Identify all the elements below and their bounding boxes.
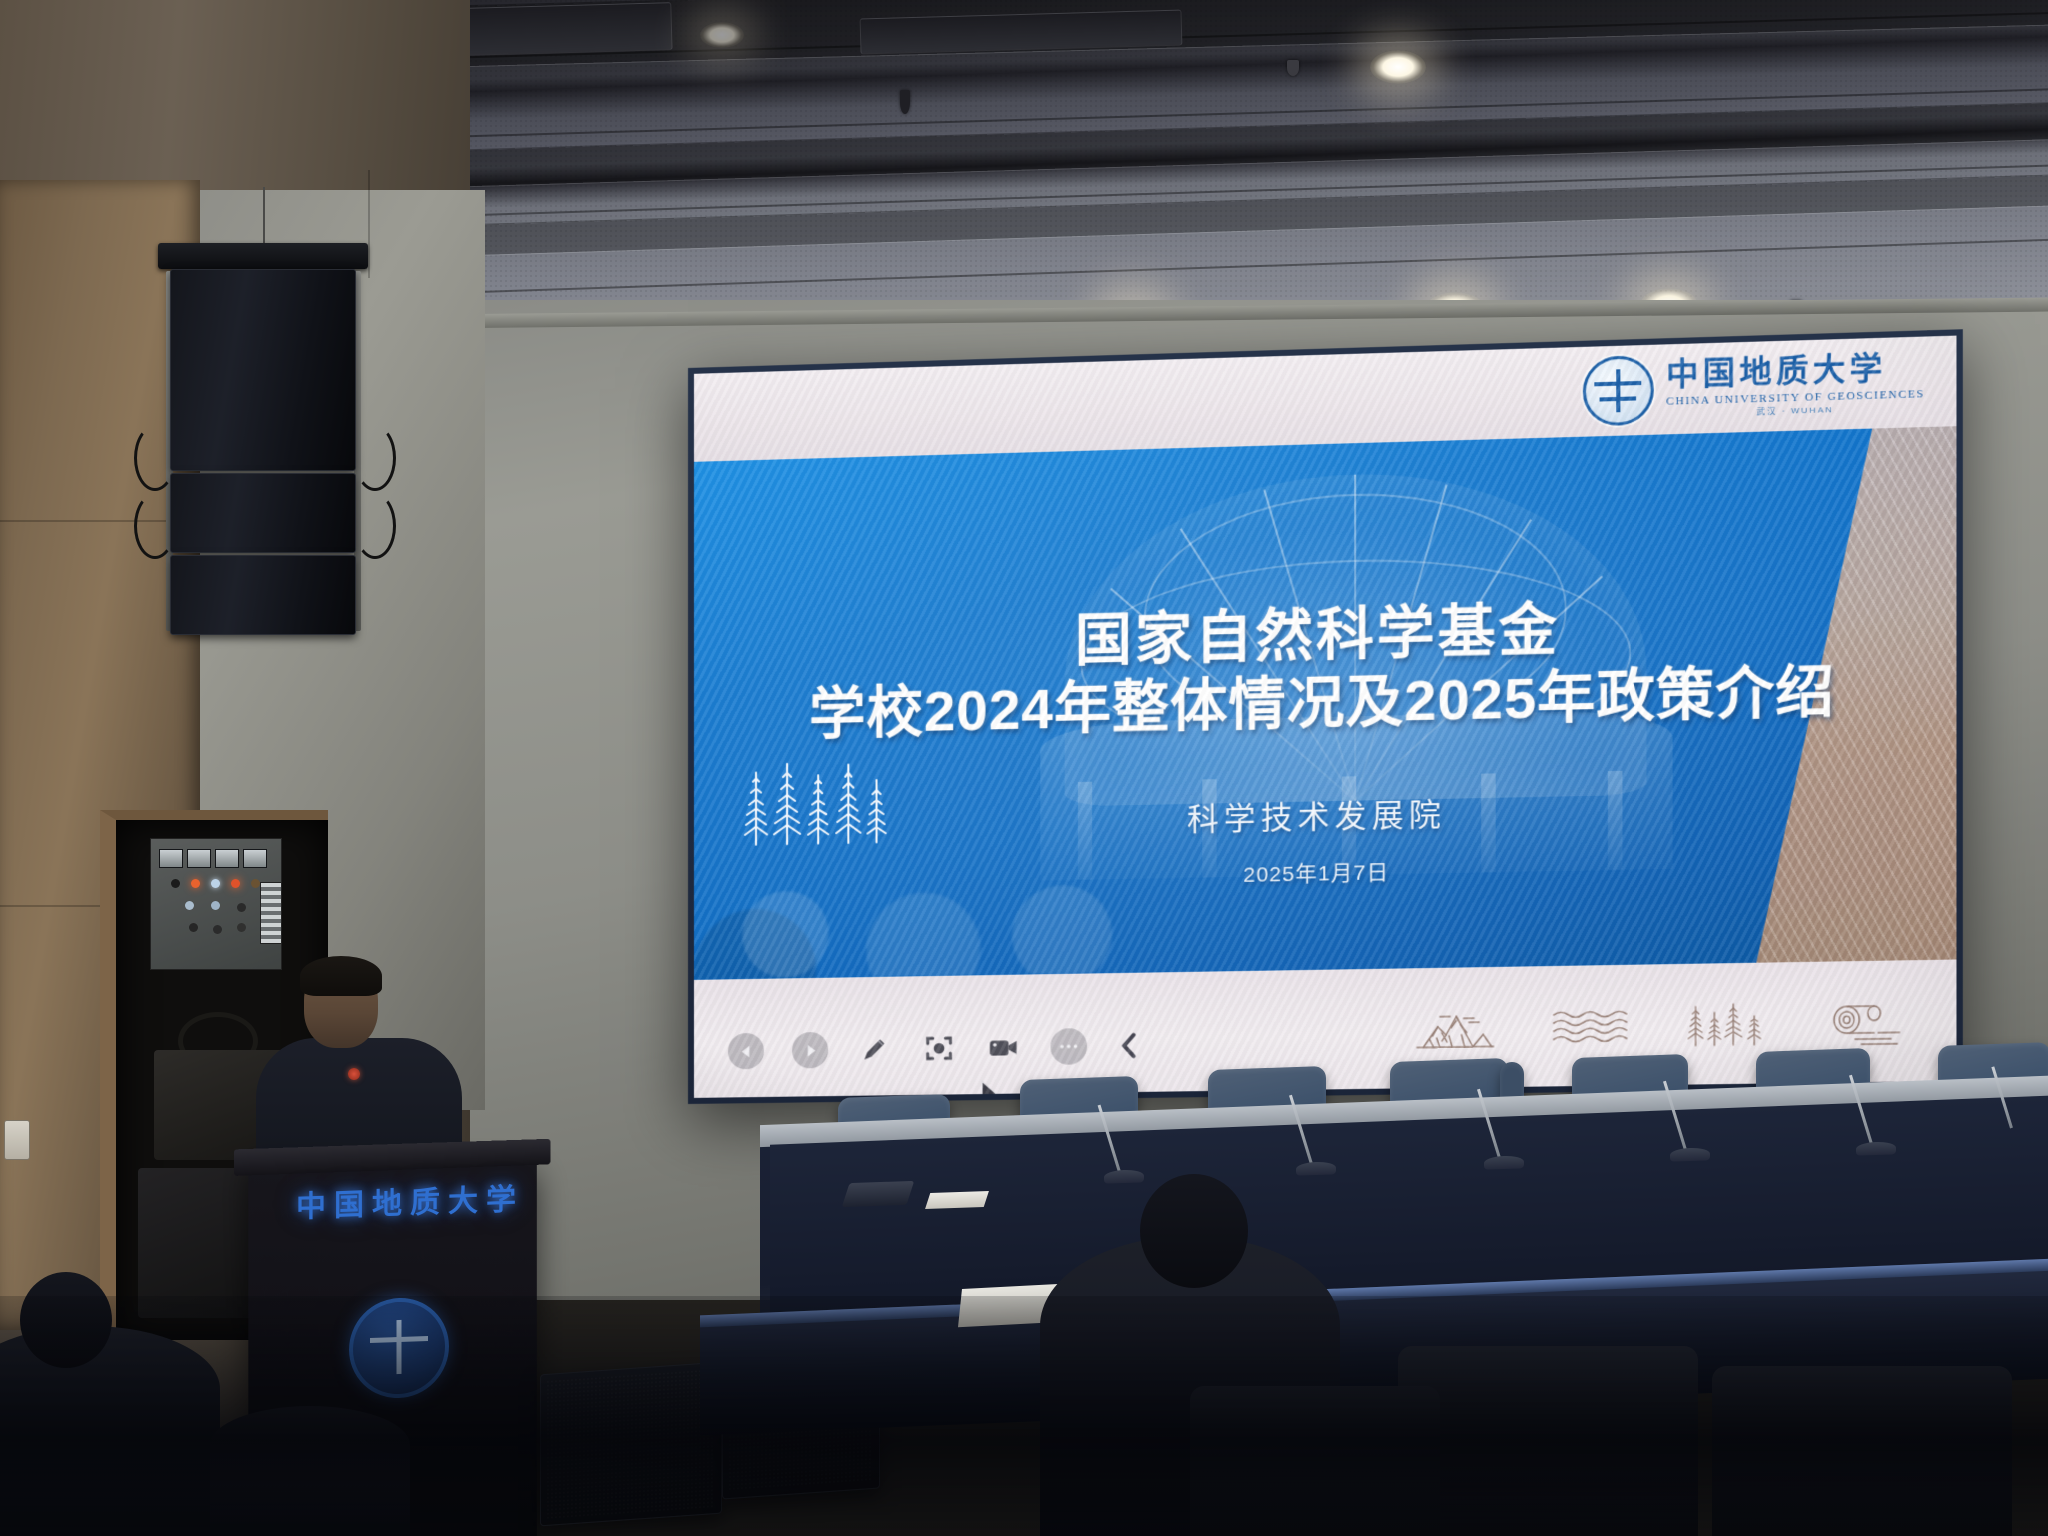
record-button[interactable] — [986, 1029, 1022, 1066]
panel-indicator-led[interactable] — [185, 901, 194, 910]
collapse-toolbar-button[interactable] — [1116, 1029, 1142, 1062]
table-document — [925, 1191, 989, 1209]
speaker-fly-bar — [158, 243, 368, 269]
terminal-block — [260, 882, 282, 944]
sprinkler-head-icon — [1287, 60, 1299, 76]
microphone-base — [1484, 1155, 1524, 1169]
foreground-shadow — [0, 1296, 2048, 1536]
ceiling-projector-mount — [900, 90, 910, 114]
presenter-toolbar — [728, 1027, 1142, 1069]
log-icon — [1824, 1001, 1906, 1045]
slide-nature-icon-row — [1415, 999, 1906, 1051]
university-emblem-icon — [1583, 355, 1654, 427]
microphone-base — [1296, 1161, 1336, 1175]
panel-indicator-led[interactable] — [231, 879, 240, 888]
lectern-sign-text: 中国地质大学 — [296, 1174, 524, 1226]
microphone-base — [1104, 1169, 1144, 1183]
slide-title-block: 国家自然科学基金 学校2024年整体情况及2025年政策介绍 — [694, 586, 1956, 751]
slide-body: 国家自然科学基金 学校2024年整体情况及2025年政策介绍 科学技术发展院 2… — [694, 426, 1956, 980]
panel-meter-icon — [187, 849, 211, 868]
presenter-lapel-pin — [348, 1068, 360, 1080]
projection-screen: 中国地质大学 CHINA UNIVERSITY OF GEOSCIENCES 武… — [688, 329, 1963, 1104]
university-logo-text: 中国地质大学 CHINA UNIVERSITY OF GEOSCIENCES 武… — [1666, 351, 1925, 420]
mountain-icon — [1415, 1008, 1496, 1052]
panel-knob[interactable] — [237, 923, 246, 932]
pine-trees-icon — [1685, 1001, 1769, 1047]
line-array-loudspeaker — [158, 225, 368, 655]
wall-panel-line — [368, 170, 370, 278]
microphone-base — [1670, 1147, 1710, 1161]
light-switch[interactable] — [4, 1120, 30, 1160]
speaker-hang-wire — [263, 187, 265, 243]
panel-indicator-led[interactable] — [251, 879, 260, 888]
play-slide-button[interactable] — [792, 1032, 828, 1069]
panel-indicator-led[interactable] — [237, 903, 246, 912]
speaker-cabinet — [170, 555, 356, 635]
speaker-cable — [134, 425, 176, 491]
university-logo: 中国地质大学 CHINA UNIVERSITY OF GEOSCIENCES 武… — [1583, 347, 1925, 427]
university-name-cn: 中国地质大学 — [1666, 351, 1925, 392]
speaker-cable — [134, 493, 176, 559]
speaker-cable — [354, 493, 396, 559]
panel-knob[interactable] — [213, 925, 222, 934]
panel-meter-icon — [243, 849, 267, 868]
panel-indicator-led[interactable] — [171, 879, 180, 888]
panel-meter-icon — [159, 849, 183, 868]
presenter-hair — [300, 956, 382, 996]
table-tablet-device[interactable] — [842, 1181, 915, 1207]
more-options-button[interactable] — [1050, 1028, 1087, 1065]
ceiling-downlight — [1370, 50, 1426, 84]
ceiling-downlight — [700, 22, 744, 48]
speaker-cabinet — [170, 269, 356, 471]
slide-surface: 中国地质大学 CHINA UNIVERSITY OF GEOSCIENCES 武… — [694, 336, 1956, 1098]
microphone-base — [1856, 1141, 1896, 1155]
panel-knob[interactable] — [189, 923, 198, 932]
panel-indicator-led[interactable] — [211, 901, 220, 910]
audience-member-head — [1140, 1174, 1248, 1288]
previous-slide-button[interactable] — [728, 1033, 764, 1070]
pen-tool-button[interactable] — [856, 1031, 892, 1068]
speaker-cabinet — [170, 473, 356, 553]
panel-indicator-led[interactable] — [211, 879, 220, 888]
panel-meter-icon — [215, 849, 239, 868]
emblem-bar — [1600, 397, 1636, 402]
speaker-cable — [354, 425, 396, 491]
spotlight-button[interactable] — [921, 1030, 957, 1067]
waves-icon — [1550, 1006, 1631, 1050]
conference-hall-photo: 中国地质大学 CHINA UNIVERSITY OF GEOSCIENCES 武… — [0, 0, 2048, 1536]
panel-indicator-led[interactable] — [191, 879, 200, 888]
